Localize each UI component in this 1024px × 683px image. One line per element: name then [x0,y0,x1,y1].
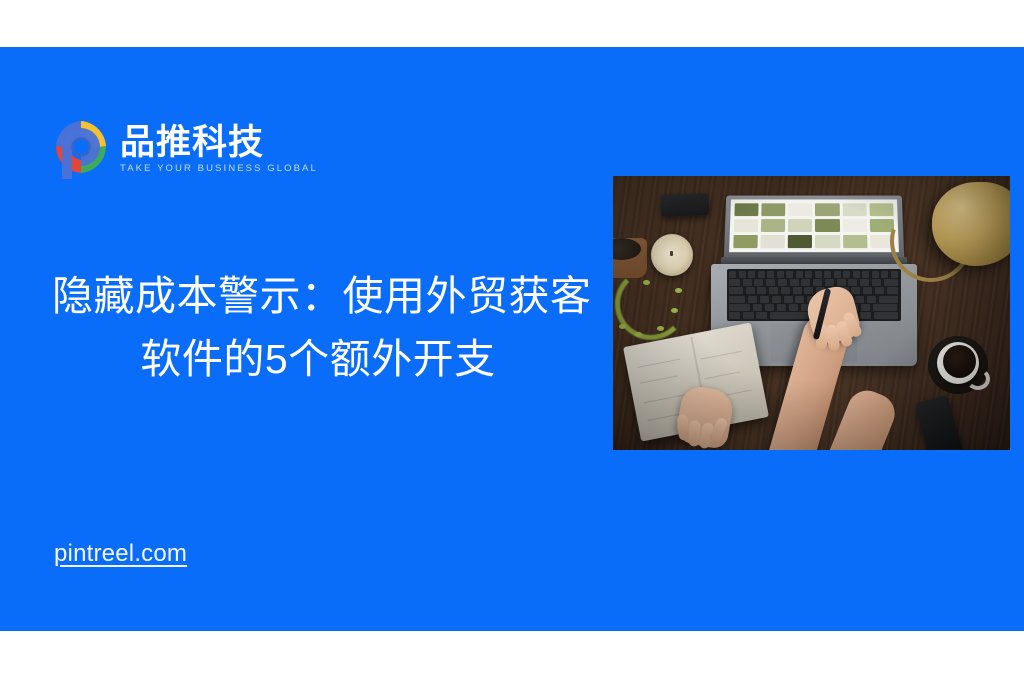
slide-background: 品推科技 TAKE YOUR BUSINESS GLOBAL 隐藏成本警示：使用… [0,47,1024,631]
screen-thumb [761,219,785,232]
screen-thumb [815,219,839,232]
slide-canvas: 品推科技 TAKE YOUR BUSINESS GLOBAL 隐藏成本警示：使用… [0,0,1024,683]
screen-thumb [869,203,893,216]
screen-thumb [842,203,866,216]
screen-thumb [761,235,786,248]
headline-line-1: 隐藏成本警示：使用外贸获客 [52,265,612,328]
screen-thumb [734,219,759,232]
brand-tagline: TAKE YOUR BUSINESS GLOBAL [120,163,318,175]
screen-thumb [815,203,839,216]
leaf [635,332,642,337]
screen-thumb [788,203,812,216]
leaf [675,288,682,293]
leaf [643,280,650,285]
brand-logo: 品推科技 TAKE YOUR BUSINESS GLOBAL [52,117,318,179]
coffee-liquid [943,345,976,378]
screen-thumb [733,235,758,248]
brand-name: 品推科技 [120,124,318,162]
screen-thumb [788,219,812,232]
potted-plant-vine [615,268,687,340]
brand-logo-text: 品推科技 TAKE YOUR BUSINESS GLOBAL [120,122,318,175]
screen-thumb [815,235,839,248]
headline-line-2: 软件的5个额外开支 [52,328,612,391]
laptop-screen-product-grid [729,199,899,252]
laptop-lid [724,196,905,260]
desk-lamp-shade [932,182,1010,266]
screen-thumb [734,203,758,216]
leaf [619,324,626,329]
page-title: 隐藏成本警示：使用外贸获客 软件的5个额外开支 [52,265,612,391]
keyboard-row [729,279,899,286]
keyboard-row [729,271,899,278]
hero-photo [613,176,1010,450]
screen-thumb [843,219,867,232]
screen-thumb [788,235,812,248]
screen-thumb [843,235,868,248]
screen-thumb [761,203,785,216]
pintreel-pinwheel-logo-icon [52,117,110,179]
bluetooth-speaker [661,193,710,217]
leaf [671,308,678,313]
leaf [657,326,664,331]
candle [651,234,693,276]
site-url-link[interactable]: pintreel.com [54,539,187,569]
